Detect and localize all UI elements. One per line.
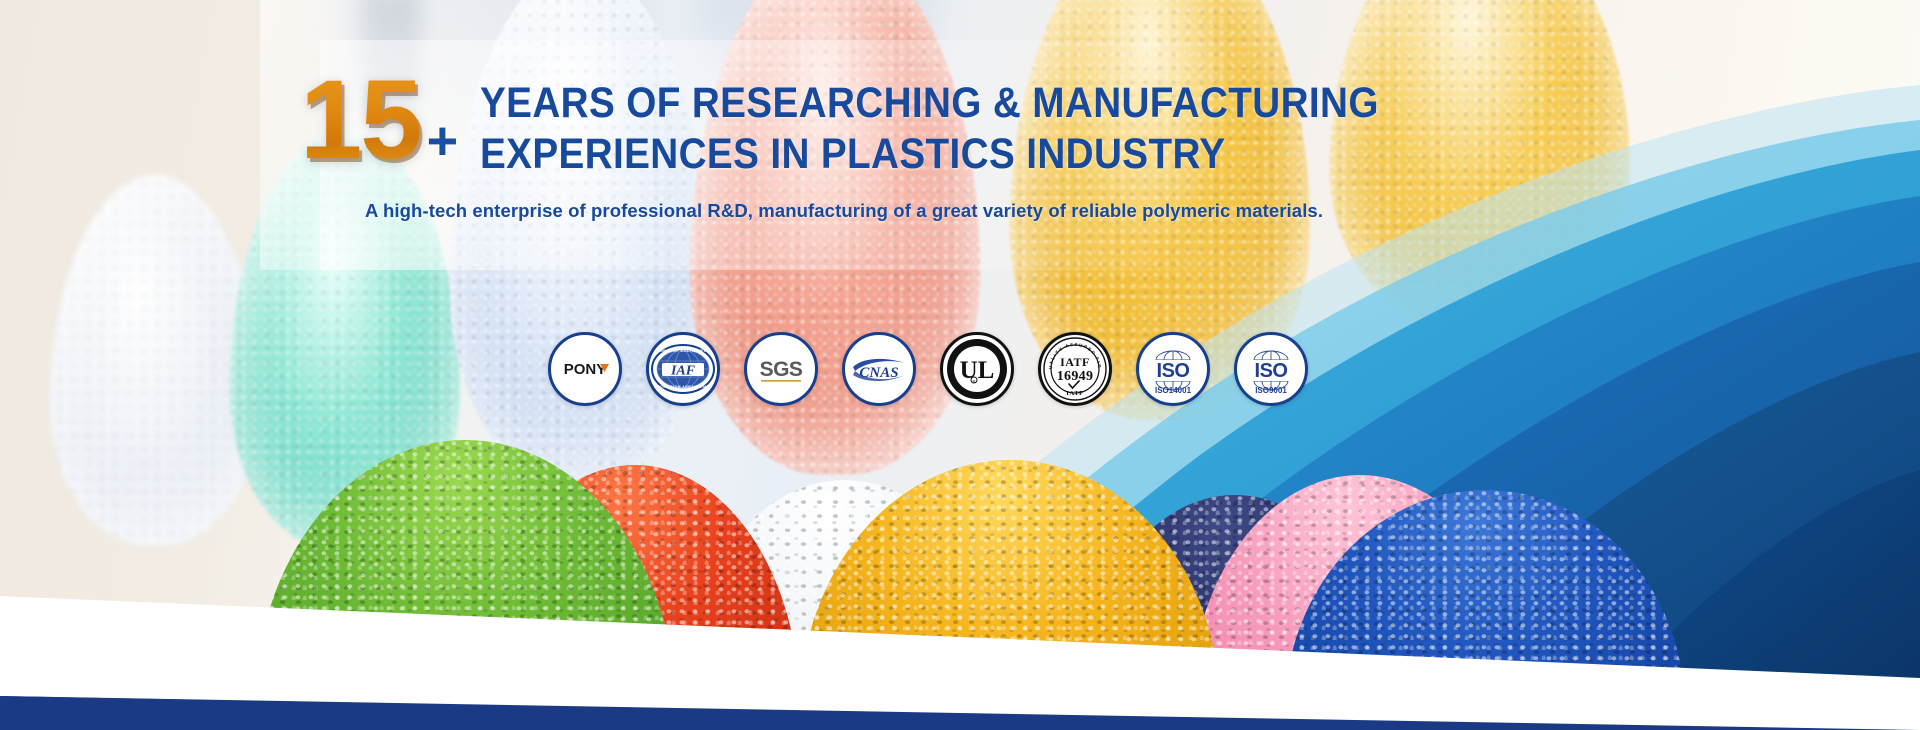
svg-text:IATF: IATF — [1066, 390, 1083, 397]
svg-text:ISO9001: ISO9001 — [1255, 386, 1287, 395]
banner-content: 15 + YEARS OF RESEARCHING & MANUFACTURIN… — [0, 0, 1920, 730]
iso9001-certification-icon[interactable]: ISO ISO9001 — [1234, 332, 1308, 406]
iatf-certification-icon[interactable]: QUALITY ASSURED FIRM IATF 16949 IATF — [1038, 332, 1112, 406]
cnas-certification-icon[interactable]: CNAS — [842, 332, 916, 406]
svg-text:CNAS: CNAS — [859, 365, 898, 381]
svg-text:ISO: ISO — [1157, 360, 1190, 382]
pony-certification-icon[interactable]: PONY — [548, 332, 622, 406]
svg-text:IATF: IATF — [1060, 355, 1090, 369]
hero-banner: 15 + YEARS OF RESEARCHING & MANUFACTURIN… — [0, 0, 1920, 730]
headline-row: 15 + YEARS OF RESEARCHING & MANUFACTURIN… — [300, 68, 1479, 179]
iso14001-certification-icon[interactable]: ISO ISO14001 — [1136, 332, 1210, 406]
headline-line-2: EXPERIENCES IN PLASTICS INDUSTRY — [480, 129, 1379, 180]
certification-badges: PONY I — [548, 332, 1308, 406]
svg-text:SGS: SGS — [760, 358, 803, 381]
svg-text:PONY: PONY — [564, 361, 607, 378]
banner-subtitle: A high-tech enterprise of professional R… — [365, 200, 1323, 222]
svg-text:MEMBER OF MULTILATERAL: MEMBER OF MULTILATERAL — [654, 349, 713, 353]
svg-text:ISO14001: ISO14001 — [1155, 386, 1192, 395]
headline-text-block: YEARS OF RESEARCHING & MANUFACTURING EXP… — [480, 78, 1479, 179]
headline-line-1: YEARS OF RESEARCHING & MANUFACTURING — [480, 78, 1379, 129]
svg-text:ISO: ISO — [1255, 360, 1288, 382]
iaf-certification-icon[interactable]: IAF MEMBER OF MULTILATERAL RECOGNITION A… — [646, 332, 720, 406]
svg-text:R: R — [973, 378, 976, 383]
years-number: 15 — [300, 68, 421, 171]
plus-symbol: + — [427, 114, 459, 168]
sgs-certification-icon[interactable]: SGS — [744, 332, 818, 406]
svg-text:IAF: IAF — [670, 364, 696, 379]
svg-text:16949: 16949 — [1057, 369, 1094, 384]
svg-text:RECOGNITION ARRANGEMENT: RECOGNITION ARRANGEMENT — [651, 385, 715, 389]
ul-certification-icon[interactable]: UL R — [940, 332, 1014, 406]
